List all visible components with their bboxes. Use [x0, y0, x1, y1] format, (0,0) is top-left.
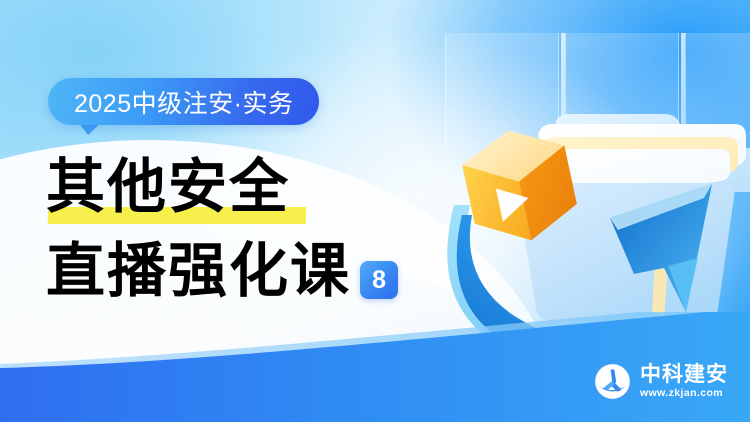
course-category-badge: 2025中级注安·实务 [48, 78, 319, 125]
headline-line-2: 直播强化课 [46, 236, 351, 306]
course-banner: 2025中级注安·实务 其他安全 直播强化课 8 [0, 0, 750, 422]
headline-row-1: 其他安全 [46, 152, 398, 222]
episode-number-label: 8 [372, 268, 386, 293]
course-category-label: 2025中级注安·实务 [74, 84, 293, 120]
brand-name: 中科建安 [640, 363, 728, 386]
zkjan-circle-mark-icon [594, 363, 631, 400]
brand-logo-text: 中科建安 www.zkjan.com [640, 363, 728, 400]
brand-logo: 中科建安 www.zkjan.com [594, 363, 728, 400]
folder-documents-icon [430, 0, 750, 345]
episode-number-badge: 8 [360, 261, 398, 299]
headline-block: 其他安全 直播强化课 8 [46, 152, 398, 306]
headline-row-2: 直播强化课 8 [46, 236, 398, 306]
brand-url: www.zkjan.com [640, 386, 728, 400]
headline-line-1: 其他安全 [46, 152, 290, 222]
